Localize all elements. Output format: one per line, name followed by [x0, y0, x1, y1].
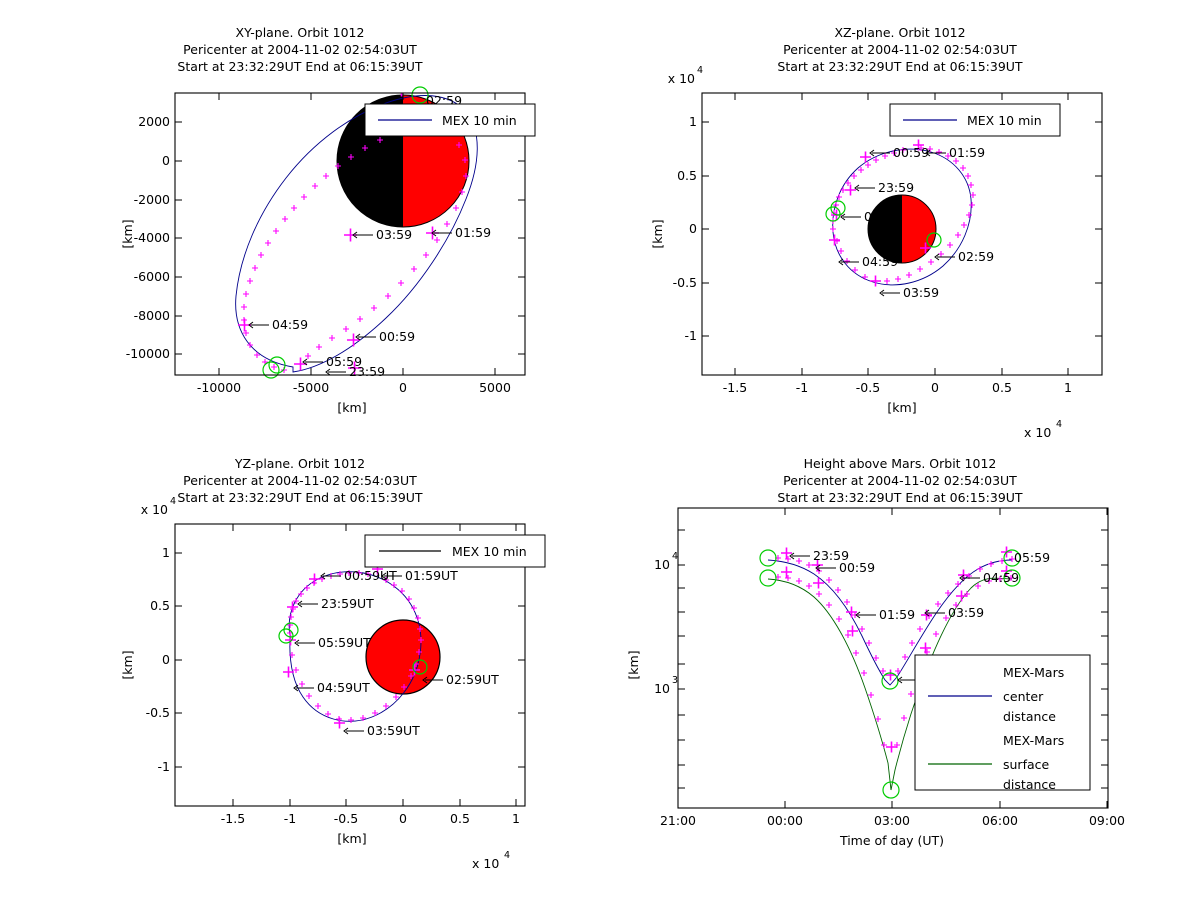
height-legend-0-line2: center: [1003, 689, 1044, 704]
height-xtick-0: 21:00: [660, 813, 696, 828]
annotation-xz-0259: 02:59: [958, 249, 994, 264]
xy-xtick-1: -5000: [293, 380, 329, 395]
annotation-xz-0559: 05:59: [864, 209, 900, 224]
yz-xtick-5: 1: [512, 811, 520, 826]
xz-xtick-0: -1.5: [723, 380, 747, 395]
annotation-yz-0559: 05:59UT: [318, 635, 371, 650]
annotation-yz-0359: 03:59UT: [367, 723, 420, 738]
annotation-2359: 23:59: [349, 364, 385, 379]
xy-xlabel: [km]: [337, 400, 366, 415]
xy-ytick-1: 0: [162, 153, 170, 168]
height-legend-0-line3: distance: [1003, 709, 1056, 724]
panel-xy-plane: XY-plane. Orbit 1012 Pericenter at 2004-…: [0, 0, 600, 440]
annotation-xz-0459: 04:59: [862, 254, 898, 269]
xy-ytick-4: -6000: [134, 269, 170, 284]
xz-ytick-4: -1: [685, 328, 697, 343]
yz-xtick-0: -1.5: [221, 811, 245, 826]
annotation-xz-0059: 00:59: [893, 145, 929, 160]
svg-text:x 10: x 10: [472, 856, 499, 871]
xz-xtick-4: 0.5: [992, 380, 1012, 395]
annotation-yz-0159: 01:59UT: [405, 568, 458, 583]
svg-text:x 10: x 10: [1024, 425, 1051, 440]
annotation-yz-2359: 23:59UT: [321, 596, 374, 611]
xz-xtick-3: 0: [931, 380, 939, 395]
yz-xlabel: [km]: [337, 831, 366, 846]
xy-ytick-0: 2000: [138, 114, 170, 129]
svg-text:4: 4: [697, 65, 703, 76]
annotation-h-0359: 03:59: [948, 605, 984, 620]
xz-y-exponent: x 10 4: [668, 65, 703, 86]
yz-ytick-0: 1: [162, 545, 170, 560]
xz-legend-label: MEX 10 min: [967, 113, 1042, 128]
height-ytick-label-4: 10 4: [654, 551, 678, 572]
xz-ylabel: [km]: [650, 219, 665, 248]
svg-text:3: 3: [672, 675, 678, 686]
xz-xtick-2: -0.5: [856, 380, 880, 395]
xy-ytick-5: -8000: [134, 308, 170, 323]
annotation-h-0159: 01:59: [879, 607, 915, 622]
height-legend-1-line1: MEX-Mars: [1003, 733, 1064, 748]
xz-x-exponent: x 10 4: [1024, 419, 1062, 440]
annotation-0159: 01:59: [455, 225, 491, 240]
xz-legend: MEX 10 min: [890, 104, 1060, 136]
xz-xtick-1: -1: [796, 380, 808, 395]
panel-xz-plane: XZ-plane. Orbit 1012 Pericenter at 2004-…: [600, 0, 1200, 440]
xy-legend: MEX 10 min: [365, 104, 535, 136]
xy-ytick-6: -10000: [126, 346, 170, 361]
annotation-xz-2359: 23:59: [878, 180, 914, 195]
svg-text:x 10: x 10: [141, 502, 168, 517]
height-legend-0-line1: MEX-Mars: [1003, 665, 1064, 680]
xz-ytick-1: 0.5: [677, 168, 697, 183]
yz-xtick-3: 0: [399, 811, 407, 826]
height-xtick-3: 06:00: [982, 813, 1018, 828]
xz-ytick-3: -0.5: [673, 275, 697, 290]
height-legend-1-line3: distance: [1003, 777, 1056, 792]
svg-text:x 10: x 10: [668, 71, 695, 86]
yz-ytick-2: 0: [162, 652, 170, 667]
annotation-h-0059: 00:59: [839, 560, 875, 575]
annotation-xz-0359: 03:59: [903, 285, 939, 300]
svg-text:4: 4: [672, 551, 678, 562]
xy-xtick-0: -10000: [197, 380, 241, 395]
svg-text:4: 4: [1056, 419, 1062, 430]
height-ylabel: [km]: [626, 650, 641, 679]
annotation-0459: 04:59: [272, 317, 308, 332]
yz-xtick-2: -0.5: [334, 811, 358, 826]
annotation-yz-0259: 02:59UT: [446, 672, 499, 687]
annotation-h-0459: 04:59: [983, 570, 1019, 585]
yz-ytick-4: -1: [158, 759, 170, 774]
xz-xtick-5: 1: [1064, 380, 1072, 395]
yz-legend-label: MEX 10 min: [452, 544, 527, 559]
xy-ytick-2: -2000: [134, 192, 170, 207]
yz-y-exponent: x 10 4: [141, 496, 176, 517]
annotation-yz-0459: 04:59UT: [317, 680, 370, 695]
annotation-xz-0159: 01:59: [949, 145, 985, 160]
yz-legend: MEX 10 min: [365, 535, 545, 567]
height-xtick-2: 03:00: [874, 813, 910, 828]
yz-ytick-1: 0.5: [150, 598, 170, 613]
yz-xtick-1: -1: [284, 811, 296, 826]
annotation-0359: 03:59: [376, 227, 412, 242]
xy-xtick-3: 5000: [479, 380, 511, 395]
annotation-h-0559: 05:59: [1014, 550, 1050, 565]
svg-text:4: 4: [170, 496, 176, 507]
height-ytick-label-3: 10 3: [654, 675, 678, 696]
annotation-0059: 00:59: [379, 329, 415, 344]
svg-text:4: 4: [504, 850, 510, 861]
svg-text:10: 10: [654, 681, 670, 696]
xy-xtick-2: 0: [399, 380, 407, 395]
yz-x-exponent: x 10 4: [472, 850, 510, 871]
yz-ytick-3: -0.5: [146, 705, 170, 720]
yz-ylabel: [km]: [120, 650, 135, 679]
panel-yz-plane: YZ-plane. Orbit 1012 Pericenter at 2004-…: [0, 440, 600, 900]
yz-y-ticks: 1 0.5 0 -0.5 -1: [146, 545, 525, 774]
xz-ytick-0: 1: [689, 114, 697, 129]
panel-height-above-mars: Height above Mars. Orbit 1012 Pericenter…: [600, 440, 1200, 900]
svg-text:10: 10: [654, 557, 670, 572]
xz-ytick-2: 0: [689, 221, 697, 236]
height-xlabel: Time of day (UT): [839, 833, 944, 848]
xy-legend-label: MEX 10 min: [442, 113, 517, 128]
height-legend: MEX-Mars center distance MEX-Mars surfac…: [915, 655, 1090, 792]
height-xtick-4: 09:00: [1089, 813, 1125, 828]
height-legend-1-line2: surface: [1003, 757, 1050, 772]
xy-ylabel: [km]: [120, 219, 135, 248]
mars-disc-yz: [366, 620, 440, 694]
xz-xlabel: [km]: [887, 400, 916, 415]
height-xtick-1: 00:00: [767, 813, 803, 828]
yz-xtick-4: 0.5: [450, 811, 470, 826]
xy-ytick-3: -4000: [134, 230, 170, 245]
